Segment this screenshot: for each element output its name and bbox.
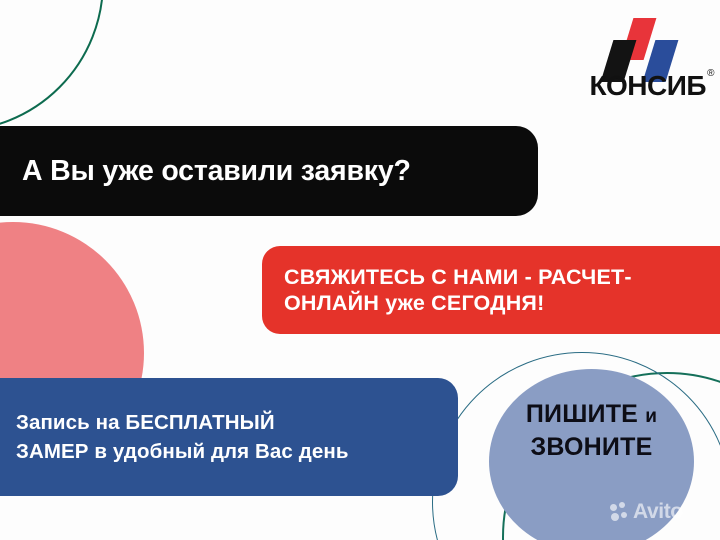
avito-watermark: Avito: [610, 500, 683, 524]
banner-free-measure-line1: Запись на БЕСПЛАТНЫЙ: [16, 411, 275, 434]
banner-contact-line1: СВЯЖИТЕСЬ С НАМИ - РАСЧЕТ-: [284, 265, 632, 289]
logo-wordmark: КОНСИБ ®: [566, 70, 706, 102]
banner-free-measure-line2: ЗАМЕР в удобный для Вас день: [16, 440, 349, 463]
banner-contact-line2-online: ОНЛАЙН: [284, 291, 379, 315]
banner-contact-line2-uzhe: уже: [385, 291, 425, 315]
logo-wordmark-text: КОНСИБ: [589, 70, 706, 101]
avito-dots-icon: [610, 502, 630, 522]
banner-question-black: А Вы уже оставили заявку?: [0, 126, 538, 216]
banner-contact-red: СВЯЖИТЕСЬ С НАМИ - РАСЧЕТ- ОНЛАЙН уже СЕ…: [262, 246, 720, 334]
trademark-symbol: ®: [707, 68, 714, 79]
avito-watermark-text: Avito: [633, 500, 683, 524]
banner-free-measure-blue: Запись на БЕСПЛАТНЫЙ ЗАМЕР в удобный для…: [0, 378, 458, 496]
logo-mark-icon: [566, 18, 706, 66]
konsib-logo: КОНСИБ ®: [566, 18, 706, 102]
callout-line1-conj: и: [645, 406, 657, 427]
banner-contact-line2-today: СЕГОДНЯ!: [431, 291, 544, 315]
callout-line2: ЗВОНИТЕ: [531, 433, 653, 461]
banner-contact-text: СВЯЖИТЕСЬ С НАМИ - РАСЧЕТ- ОНЛАЙН уже СЕ…: [284, 264, 632, 316]
callout-line1-main: ПИШИТЕ: [526, 400, 638, 428]
banner-free-measure-text: Запись на БЕСПЛАТНЫЙ ЗАМЕР в удобный для…: [16, 408, 349, 466]
advertisement-canvas: КОНСИБ ® А Вы уже оставили заявку? СВЯЖИ…: [0, 0, 720, 540]
green-ring-topleft-icon: [0, 0, 104, 132]
callout-write-and-call: ПИШИТЕ и ЗВОНИТЕ: [489, 398, 694, 465]
banner-question-text: А Вы уже оставили заявку?: [22, 155, 411, 188]
